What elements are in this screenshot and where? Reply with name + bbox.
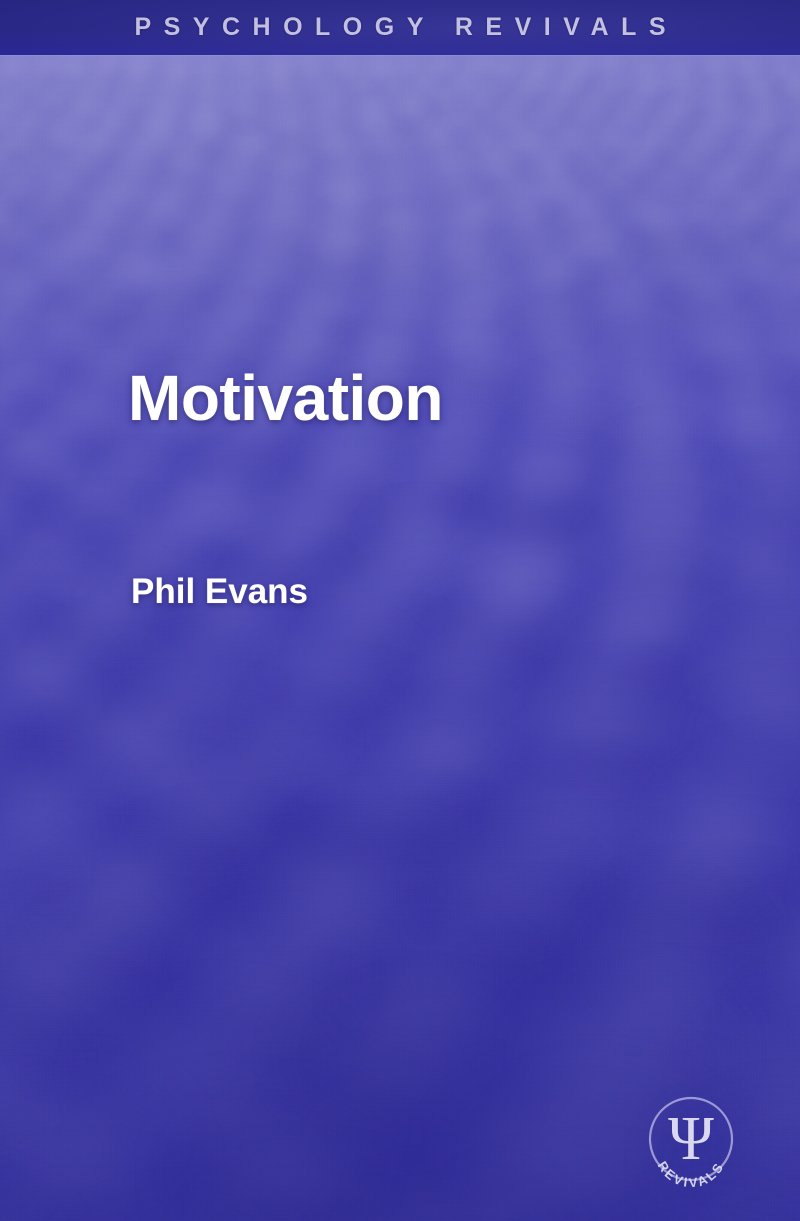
series-title: PSYCHOLOGY REVIVALS — [122, 13, 678, 42]
author-name: Phil Evans — [131, 574, 308, 609]
psi-revivals-logo: Ψ REVIVALS — [639, 1089, 743, 1193]
book-cover: PSYCHOLOGY REVIVALS Motivation Phil Evan… — [0, 0, 800, 1221]
background-grain — [0, 0, 800, 1221]
page-title: Motivation — [128, 366, 443, 430]
series-band: PSYCHOLOGY REVIVALS — [0, 0, 800, 55]
svg-text:Ψ: Ψ — [668, 1105, 714, 1173]
